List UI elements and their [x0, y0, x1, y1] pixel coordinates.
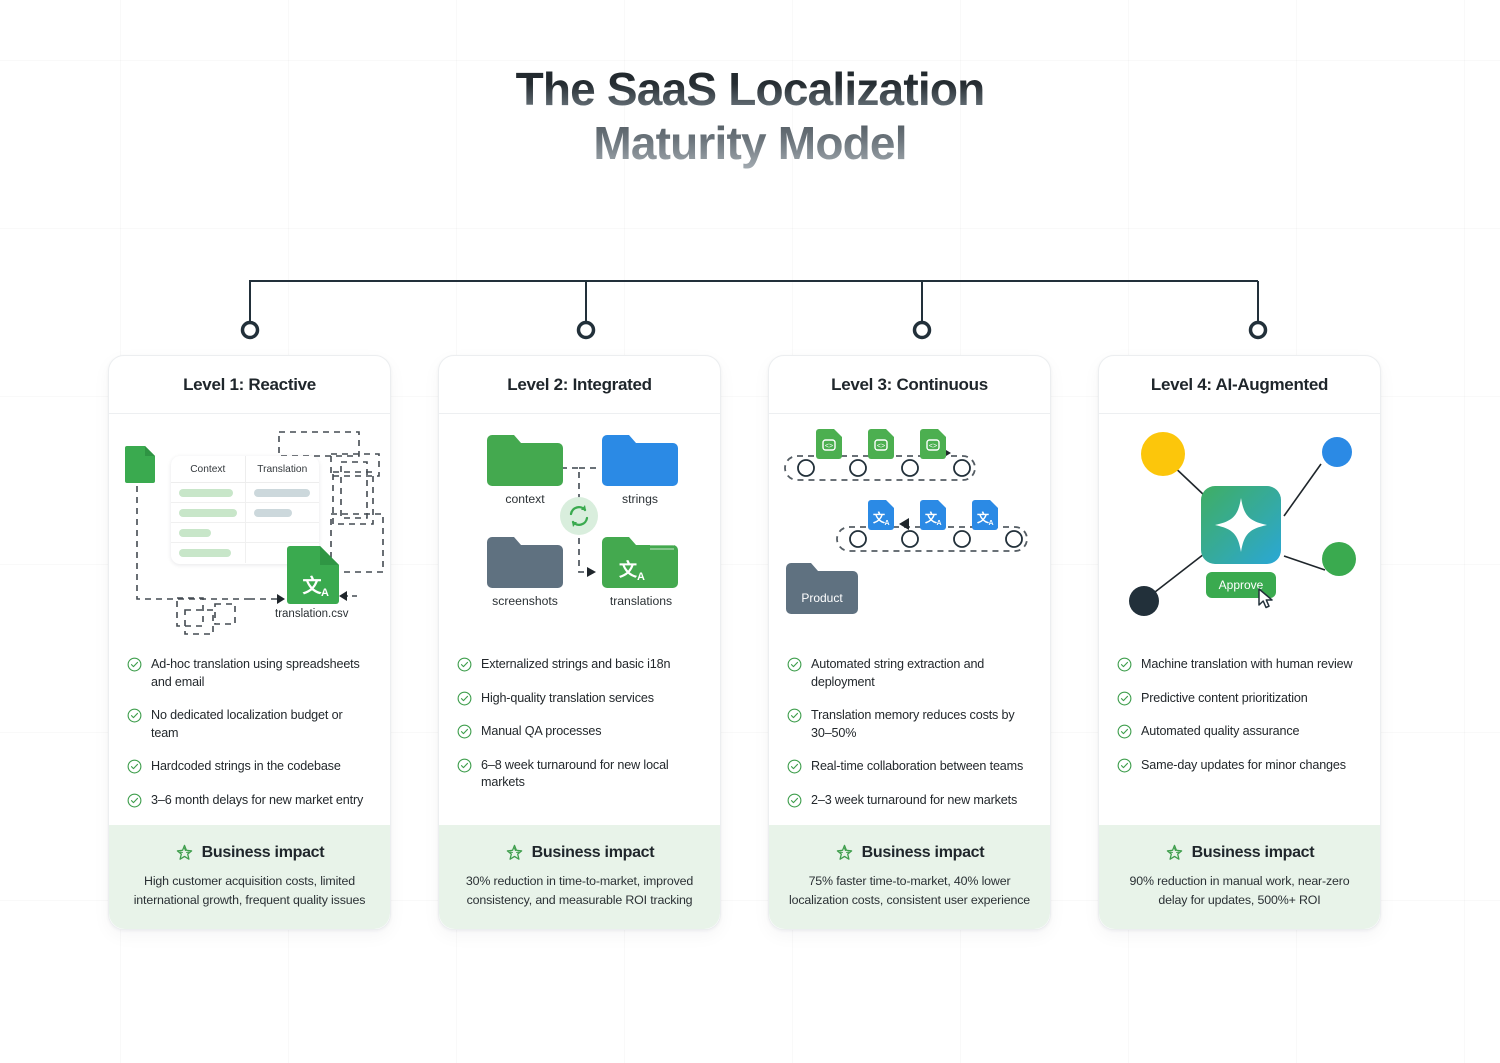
check-circle-icon	[1117, 724, 1132, 739]
svg-text:文: 文	[302, 574, 322, 597]
list-item-label: Manual QA processes	[481, 723, 601, 741]
list-item: 3–6 month delays for new market entry	[127, 792, 372, 810]
code-file-icon: <>	[816, 429, 842, 459]
list-item: Manual QA processes	[457, 723, 702, 741]
svg-text:A: A	[988, 520, 993, 527]
business-impact-panel: Business impact High customer acquisitio…	[109, 825, 390, 929]
folder-screenshots-icon	[487, 536, 563, 588]
illustration-conveyor-pipeline: <> <> <> 文 A 文 A	[769, 414, 1050, 636]
check-circle-icon	[457, 758, 472, 773]
check-circle-icon	[127, 657, 142, 672]
list-item: Ad-hoc translation using spreadsheets an…	[127, 656, 372, 691]
business-impact-title: Business impact	[202, 844, 325, 862]
node-green	[1322, 542, 1356, 576]
table-cell	[246, 503, 320, 522]
card-title: Level 3: Continuous	[831, 375, 988, 395]
list-item-label: Externalized strings and basic i18n	[481, 656, 670, 674]
card-title: Level 4: AI-Augmented	[1151, 375, 1328, 395]
check-circle-icon	[1117, 691, 1132, 706]
check-circle-icon	[787, 657, 802, 672]
table-cell	[246, 483, 320, 502]
list-item: Externalized strings and basic i18n	[457, 656, 702, 674]
list-item-label: 2–3 week turnaround for new markets	[811, 792, 1017, 810]
list-item: High-quality translation services	[457, 690, 702, 708]
title-line-1: The SaaS Localization	[0, 62, 1500, 116]
card-level-1[interactable]: Level 1: Reactive	[108, 355, 391, 930]
list-item-label: Automated string extraction and deployme…	[811, 656, 1032, 691]
table-cell	[171, 483, 246, 502]
svg-text:<>: <>	[825, 443, 833, 450]
sparkle-star-icon	[1165, 843, 1184, 862]
feature-list: Externalized strings and basic i18n High…	[439, 636, 720, 825]
check-circle-icon	[787, 793, 802, 808]
business-impact-text: 75% faster time-to-market, 40% lower loc…	[785, 872, 1034, 909]
card-level-2[interactable]: Level 2: Integrated context strings	[438, 355, 721, 930]
sync-refresh-icon	[560, 497, 598, 535]
list-item: Translation memory reduces costs by 30–5…	[787, 707, 1032, 742]
illustration-folders-sync: context strings screenshots	[439, 414, 720, 636]
illustration-spreadsheet-export: Context Translation	[109, 414, 390, 636]
list-item-label: Predictive content prioritization	[1141, 690, 1308, 708]
list-item: No dedicated localization budget or team	[127, 707, 372, 742]
svg-text:A: A	[637, 571, 645, 583]
folder-label-translations: translations	[597, 594, 685, 608]
business-impact-header: Business impact	[785, 843, 1034, 862]
table-cell	[171, 523, 246, 542]
card-header: Level 4: AI-Augmented	[1099, 356, 1380, 414]
folder-strings-icon	[602, 434, 678, 486]
node-yellow	[1141, 432, 1185, 476]
mouse-cursor-icon	[1258, 588, 1276, 612]
business-impact-panel: Business impact 90% reduction in manual …	[1099, 825, 1380, 929]
translation-file-icon: 文 A	[920, 500, 946, 530]
list-item-label: Machine translation with human review	[1141, 656, 1352, 674]
node-dark	[1129, 586, 1159, 616]
list-item: Same-day updates for minor changes	[1117, 757, 1362, 775]
list-item-label: Automated quality assurance	[1141, 723, 1299, 741]
card-level-3[interactable]: Level 3: Continuous	[768, 355, 1051, 930]
code-file-icon: <>	[868, 429, 894, 459]
card-title: Level 1: Reactive	[183, 375, 316, 395]
node-blue	[1322, 437, 1352, 467]
table-cell	[246, 523, 320, 542]
folder-translations-icon: 文 A	[602, 536, 678, 588]
business-impact-header: Business impact	[455, 843, 704, 862]
check-circle-icon	[127, 793, 142, 808]
svg-text:A: A	[936, 520, 941, 527]
folder-product-icon: Product	[786, 562, 858, 614]
feature-list: Automated string extraction and deployme…	[769, 636, 1050, 825]
table-cell	[171, 543, 246, 563]
table-row	[171, 503, 319, 523]
list-item-label: 3–6 month delays for new market entry	[151, 792, 363, 810]
list-item: Automated quality assurance	[1117, 723, 1362, 741]
folder-label-context: context	[487, 492, 563, 506]
table-row	[171, 523, 319, 543]
list-item-label: Same-day updates for minor changes	[1141, 757, 1346, 775]
list-item-label: 6–8 week turnaround for new local market…	[481, 757, 702, 792]
feature-list: Machine translation with human review Pr…	[1099, 636, 1380, 825]
list-item-label: Ad-hoc translation using spreadsheets an…	[151, 656, 372, 691]
list-item: Predictive content prioritization	[1117, 690, 1362, 708]
business-impact-panel: Business impact 75% faster time-to-marke…	[769, 825, 1050, 929]
translation-file-icon: 文 A	[868, 500, 894, 530]
list-item: Real-time collaboration between teams	[787, 758, 1032, 776]
translation-file-icon: 文 A	[287, 546, 339, 604]
svg-text:文: 文	[619, 559, 638, 580]
check-circle-icon	[127, 708, 142, 723]
svg-text:A: A	[321, 587, 329, 599]
card-header: Level 1: Reactive	[109, 356, 390, 414]
card-header: Level 3: Continuous	[769, 356, 1050, 414]
list-item-label: No dedicated localization budget or team	[151, 707, 372, 742]
list-item-label: Translation memory reduces costs by 30–5…	[811, 707, 1032, 742]
check-circle-icon	[1117, 657, 1132, 672]
table-cell	[171, 503, 246, 522]
code-file-icon: <>	[920, 429, 946, 459]
check-circle-icon	[457, 724, 472, 739]
table-header-row: Context Translation	[171, 456, 319, 483]
check-circle-icon	[787, 708, 802, 723]
translation-file-icon: 文 A	[972, 500, 998, 530]
business-impact-text: 90% reduction in manual work, near-zero …	[1115, 872, 1364, 909]
ai-node-graph	[1099, 414, 1381, 636]
card-title: Level 2: Integrated	[507, 375, 652, 395]
illustration-ai-hub: Approve	[1099, 414, 1380, 636]
table-header-context: Context	[171, 456, 246, 482]
sparkle-star-icon	[175, 843, 194, 862]
business-impact-panel: Business impact 30% reduction in time-to…	[439, 825, 720, 929]
page-title: The SaaS Localization Maturity Model	[0, 62, 1500, 170]
list-item-label: High-quality translation services	[481, 690, 654, 708]
folder-label-screenshots: screenshots	[481, 594, 569, 608]
svg-text:<>: <>	[877, 443, 885, 450]
folder-product-label: Product	[801, 591, 843, 605]
business-impact-title: Business impact	[862, 844, 985, 862]
list-item: 2–3 week turnaround for new markets	[787, 792, 1032, 810]
sparkle-star-icon	[835, 843, 854, 862]
sparkle-star-icon	[505, 843, 524, 862]
translation-file-label: translation.csv	[275, 608, 349, 620]
folder-label-strings: strings	[602, 492, 678, 506]
title-line-2: Maturity Model	[0, 116, 1500, 170]
feature-list: Ad-hoc translation using spreadsheets an…	[109, 636, 390, 825]
check-circle-icon	[127, 759, 142, 774]
list-item-label: Hardcoded strings in the codebase	[151, 758, 341, 776]
business-impact-title: Business impact	[1192, 844, 1315, 862]
business-impact-title: Business impact	[532, 844, 655, 862]
check-circle-icon	[787, 759, 802, 774]
svg-text:A: A	[884, 520, 889, 527]
svg-text:<>: <>	[929, 443, 937, 450]
business-impact-text: High customer acquisition costs, limited…	[125, 872, 374, 909]
list-item-label: Real-time collaboration between teams	[811, 758, 1023, 776]
card-header: Level 2: Integrated	[439, 356, 720, 414]
business-impact-text: 30% reduction in time-to-market, improve…	[455, 872, 704, 909]
card-level-4[interactable]: Level 4: AI-Augmented	[1098, 355, 1381, 930]
table-row	[171, 483, 319, 503]
business-impact-header: Business impact	[1115, 843, 1364, 862]
list-item: Automated string extraction and deployme…	[787, 656, 1032, 691]
check-circle-icon	[457, 691, 472, 706]
check-circle-icon	[1117, 758, 1132, 773]
maturity-cards: Level 1: Reactive	[108, 355, 1400, 930]
business-impact-header: Business impact	[125, 843, 374, 862]
folder-context-icon	[487, 434, 563, 486]
check-circle-icon	[457, 657, 472, 672]
list-item: Machine translation with human review	[1117, 656, 1362, 674]
list-item: Hardcoded strings in the codebase	[127, 758, 372, 776]
approve-button-label: Approve	[1219, 578, 1264, 592]
table-header-translation: Translation	[246, 456, 320, 482]
source-file-icon	[125, 446, 155, 484]
list-item: 6–8 week turnaround for new local market…	[457, 757, 702, 792]
